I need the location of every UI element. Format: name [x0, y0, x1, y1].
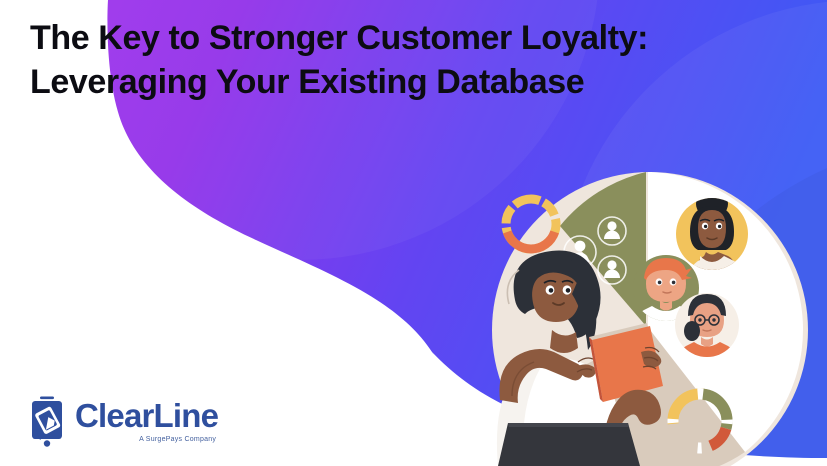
logo-wordmark: ClearLine — [75, 399, 218, 433]
laptop-top-edge — [508, 423, 629, 427]
logo-icon-top-bar — [40, 397, 54, 400]
title-line-1: The Key to Stronger Customer Loyalty: — [30, 16, 790, 60]
logo-icon-dot — [44, 440, 50, 446]
logo-tagline: A SurgePays Company — [139, 436, 216, 443]
laptop-screen — [498, 423, 640, 466]
eye-left-pupil — [549, 288, 554, 293]
slide-canvas: The Key to Stronger Customer Loyalty: Le… — [0, 0, 827, 466]
clearline-phone-card-icon — [28, 394, 66, 448]
page-title: The Key to Stronger Customer Loyalty: Le… — [30, 16, 790, 104]
eye-right-pupil — [566, 288, 571, 293]
brand-logo[interactable]: ClearLine A SurgePays Company — [28, 394, 218, 448]
title-line-2: Leveraging Your Existing Database — [30, 60, 790, 104]
logo-text-group: ClearLine A SurgePays Company — [75, 399, 218, 443]
